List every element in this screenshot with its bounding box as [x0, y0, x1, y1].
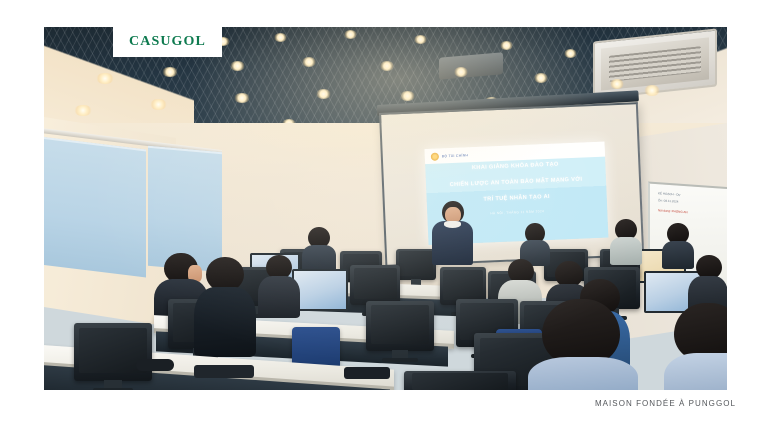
monitor [74, 323, 152, 381]
ceiling-light [74, 105, 92, 116]
keyboard [194, 365, 254, 378]
ceiling-light [564, 49, 577, 58]
ceiling-light [380, 61, 394, 71]
ceiling-light [534, 73, 548, 83]
ceiling-light [400, 91, 415, 101]
ac-vent-louvers [609, 46, 701, 82]
participant [520, 223, 550, 263]
ceiling-light [302, 57, 316, 67]
participant [194, 257, 256, 353]
footer-caption: MAISON FONDÉE À PUNGGOL [595, 399, 736, 408]
participant [302, 227, 336, 267]
ceiling-light [230, 61, 245, 71]
participant [610, 219, 642, 261]
presenter [430, 201, 474, 269]
classroom-photo: BỘ TÀI CHÍNH KHAI GIẢNG KHÓA ĐÀO TẠO CHI… [44, 27, 727, 390]
participant-foreground [528, 299, 638, 390]
whiteboard-note-3: Nội dung: PHÒNG AN [658, 208, 688, 214]
ceiling-light [454, 67, 468, 77]
monitor-screen-lit [292, 269, 348, 311]
computer-mouse [136, 359, 174, 371]
whiteboard-note-2: Ôn: 08.11.2024 [658, 198, 678, 203]
ceiling-light [344, 30, 357, 39]
monitor [366, 301, 434, 351]
monitor [404, 371, 516, 390]
ceiling-light [162, 67, 178, 77]
keyboard [344, 367, 390, 379]
brand-logo-text: CASUGOL [129, 34, 206, 50]
whiteboard-note-1: KẾ HOẠCH - Dự [658, 191, 681, 197]
ceiling-light [500, 41, 513, 50]
slide-organization: BỘ TÀI CHÍNH [442, 153, 468, 158]
ceiling-light [150, 99, 167, 110]
ceiling-light [274, 33, 287, 42]
participant-foreground [664, 303, 727, 390]
slide-line-2: CHIẾN LƯỢC AN TOÀN BẢO MẬT MẠNG VỚI [426, 176, 606, 190]
monitor [350, 265, 400, 305]
ceiling-light [414, 35, 427, 44]
ceiling-light [234, 93, 250, 103]
window-blind-left [44, 136, 146, 277]
ceiling-light [96, 73, 114, 84]
participant [258, 255, 300, 315]
ceiling-light [316, 89, 331, 99]
ceiling-light [610, 79, 624, 89]
projection-screen: BỘ TÀI CHÍNH KHAI GIẢNG KHÓA ĐÀO TẠO CHI… [379, 102, 644, 267]
national-emblem-icon [431, 152, 439, 160]
ceiling-light [644, 85, 660, 96]
logo-badge: CASUGOL [113, 27, 222, 57]
